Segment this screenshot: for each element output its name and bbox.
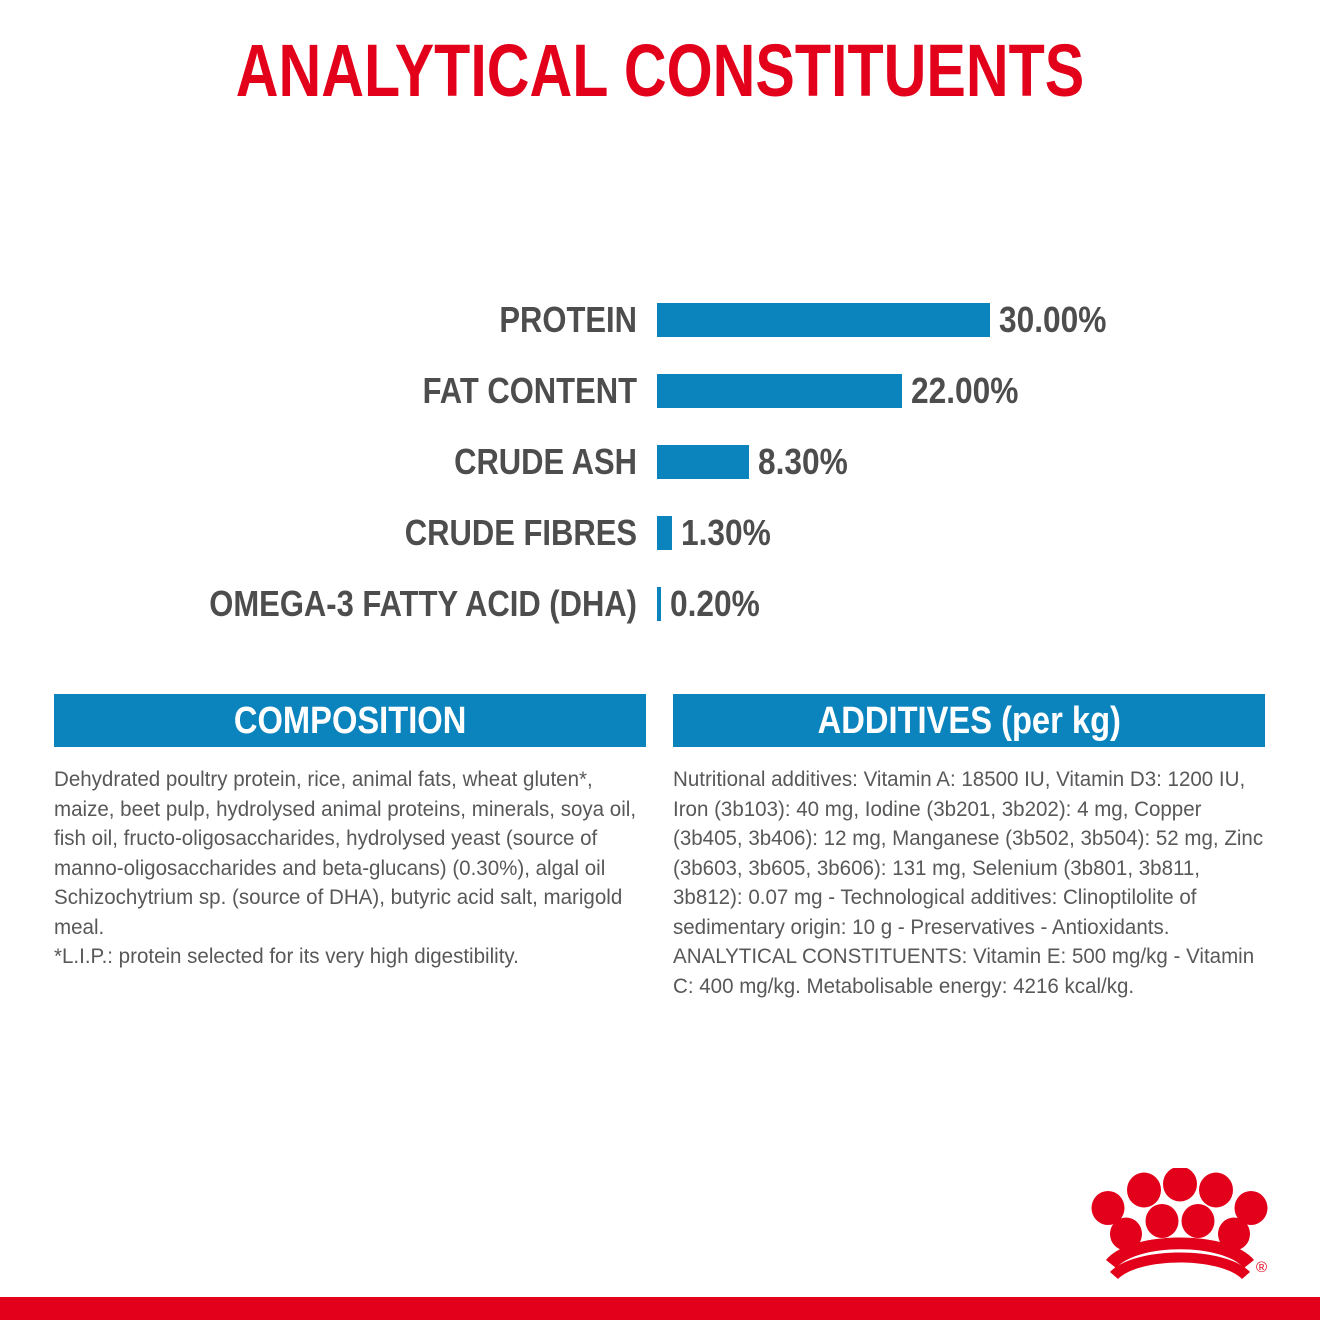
page-title: ANALYTICAL CONSTITUENTS [132,28,1188,114]
bar-value-protein: 30.00% [999,301,1106,339]
composition-panel: COMPOSITION Dehydrated poultry protein, … [54,694,646,1001]
bar-track-omega-3-fatty-acid-dha: 0.20% [657,587,772,621]
bar-fill-protein [657,303,990,337]
composition-text: Dehydrated poultry protein, rice, animal… [54,765,646,942]
additives-analytical-constituents-text: ANALYTICAL CONSTITUENTS: Vitamin E: 500 … [673,942,1265,1001]
info-panels: COMPOSITION Dehydrated poultry protein, … [54,694,1266,1001]
bar-label-fat-content: FAT CONTENT [89,372,637,410]
royal-canin-crown-logo: ® [1088,1168,1268,1280]
additives-text: Nutritional additives: Vitamin A: 18500 … [673,765,1265,942]
bar-fill-omega-3-fatty-acid-dha [657,587,661,621]
bar-label-crude-ash: CRUDE ASH [89,443,637,481]
bar-value-crude-ash: 8.30% [758,443,848,481]
bar-value-omega-3-fatty-acid-dha: 0.20% [670,585,760,623]
bar-label-protein: PROTEIN [89,301,637,339]
bar-fill-fat-content [657,374,902,408]
bar-fill-crude-ash [657,445,749,479]
chart-bar-row-omega-3-fatty-acid-dha: OMEGA-3 FATTY ACID (DHA) 0.20% [0,568,1320,639]
composition-panel-header: COMPOSITION [54,694,646,747]
registered-trademark-mark: ® [1256,1259,1267,1276]
chart-bar-row-crude-ash: CRUDE ASH 8.30% [0,426,1320,497]
bar-fill-crude-fibres [657,516,672,550]
bar-track-fat-content: 22.00% [657,374,1033,408]
bar-track-protein: 30.00% [657,303,1121,337]
bar-track-crude-fibres: 1.30% [657,516,783,550]
bar-label-omega-3-fatty-acid-dha: OMEGA-3 FATTY ACID (DHA) [89,585,637,623]
composition-heading: COMPOSITION [234,701,466,741]
additives-panel-header: ADDITIVES (per kg) [673,694,1265,747]
additives-heading: ADDITIVES (per kg) [817,701,1120,741]
bottom-red-bar [0,1297,1320,1320]
bar-track-crude-ash: 8.30% [657,445,860,479]
additives-panel: ADDITIVES (per kg) Nutritional additives… [673,694,1265,1001]
analytical-constituents-chart: PROTEIN 30.00% FAT CONTENT 22.00% CRUDE … [0,284,1320,639]
chart-bar-row-fat-content: FAT CONTENT 22.00% [0,355,1320,426]
chart-bar-row-protein: PROTEIN 30.00% [0,284,1320,355]
additives-panel-body: Nutritional additives: Vitamin A: 18500 … [673,747,1265,1001]
bar-value-fat-content: 22.00% [911,372,1018,410]
chart-bar-row-crude-fibres: CRUDE FIBRES 1.30% [0,497,1320,568]
bar-value-crude-fibres: 1.30% [681,514,771,552]
bar-label-crude-fibres: CRUDE FIBRES [89,514,637,552]
composition-footnote: *L.I.P.: protein selected for its very h… [54,942,646,972]
composition-panel-body: Dehydrated poultry protein, rice, animal… [54,747,646,972]
